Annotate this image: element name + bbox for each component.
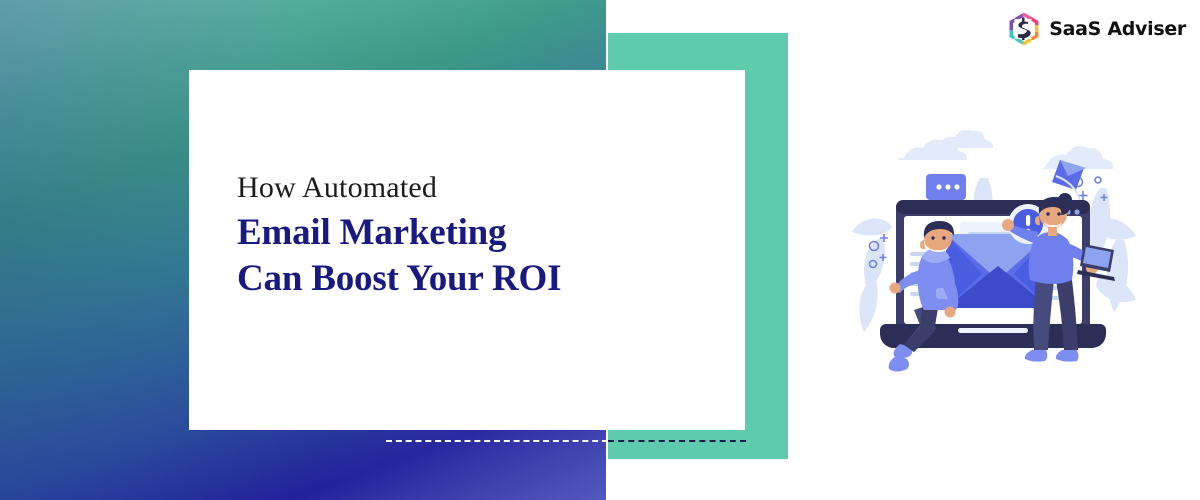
brand-name-text: SaaS Adviser <box>1049 20 1186 39</box>
dashed-divider-light-segment <box>386 440 608 442</box>
dashed-divider <box>386 440 746 442</box>
saas-adviser-hexagon-s-logo-icon <box>1008 12 1040 46</box>
article-banner: How Automated Email Marketing Can Boost … <box>0 0 1200 500</box>
cloud-decoration <box>898 130 1113 169</box>
leaf-decoration-left <box>852 218 892 332</box>
brand-logo-lockup[interactable]: SaaS Adviser <box>1008 12 1186 46</box>
headline-group: How Automated Email Marketing Can Boost … <box>237 172 707 301</box>
dashed-divider-dark-segment <box>608 440 746 442</box>
headline-line-1: Email Marketing <box>237 210 707 255</box>
headline-eyebrow: How Automated <box>237 172 707 204</box>
headline-line-2: Can Boost Your ROI <box>237 256 707 301</box>
email-marketing-laptop-illustration <box>850 128 1150 372</box>
